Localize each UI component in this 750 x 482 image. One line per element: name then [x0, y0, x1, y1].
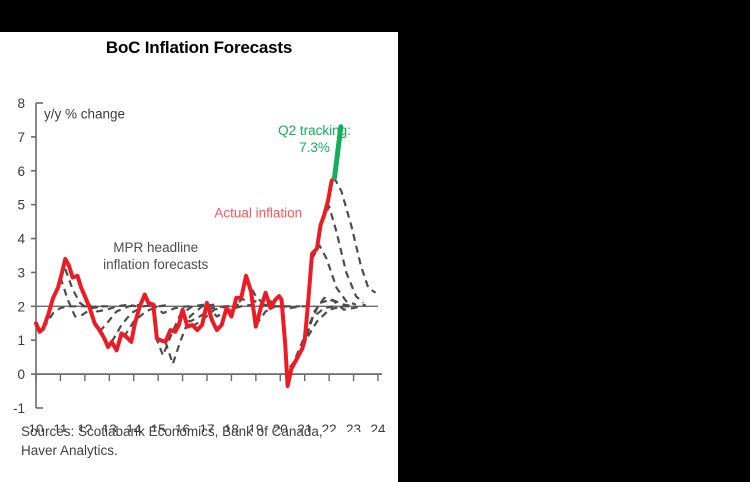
y-tick-label: 2 — [17, 299, 25, 314]
y-tick-label: 3 — [17, 265, 25, 280]
forecast-line — [124, 305, 170, 337]
y-tick-label: 5 — [17, 198, 25, 213]
annotation-forecasts: MPR headlineinflation forecasts — [103, 240, 208, 272]
forecast-line — [307, 298, 366, 335]
forecast-line — [334, 178, 376, 293]
source-line-2: Haver Analytics. — [21, 441, 391, 460]
screenshot-root: BoC Inflation Forecasts 876543210-110111… — [0, 0, 750, 482]
source-note: Sources: Scotiabank Economics, Bank of C… — [21, 422, 391, 460]
annotation-actual: Actual inflation — [214, 206, 302, 221]
forecast-line — [312, 245, 356, 304]
y-tick-label: 6 — [17, 164, 25, 179]
y-tick-label: 0 — [17, 367, 25, 382]
source-line-1: Sources: Scotiabank Economics, Bank of C… — [21, 422, 391, 441]
forecast-line — [165, 305, 214, 364]
y-tick-label: -1 — [13, 401, 25, 416]
forecast-line — [322, 206, 364, 303]
y-axis-unit-label: y/y % change — [44, 106, 125, 121]
chart-card: BoC Inflation Forecasts 876543210-110111… — [0, 32, 398, 482]
y-tick-label: 1 — [17, 333, 25, 348]
inflation-chart: 876543210-110111213141516171819202122232… — [0, 32, 398, 432]
y-tick-label: 7 — [17, 130, 25, 145]
y-tick-label: 8 — [17, 96, 25, 111]
y-tick-label: 4 — [17, 232, 25, 247]
